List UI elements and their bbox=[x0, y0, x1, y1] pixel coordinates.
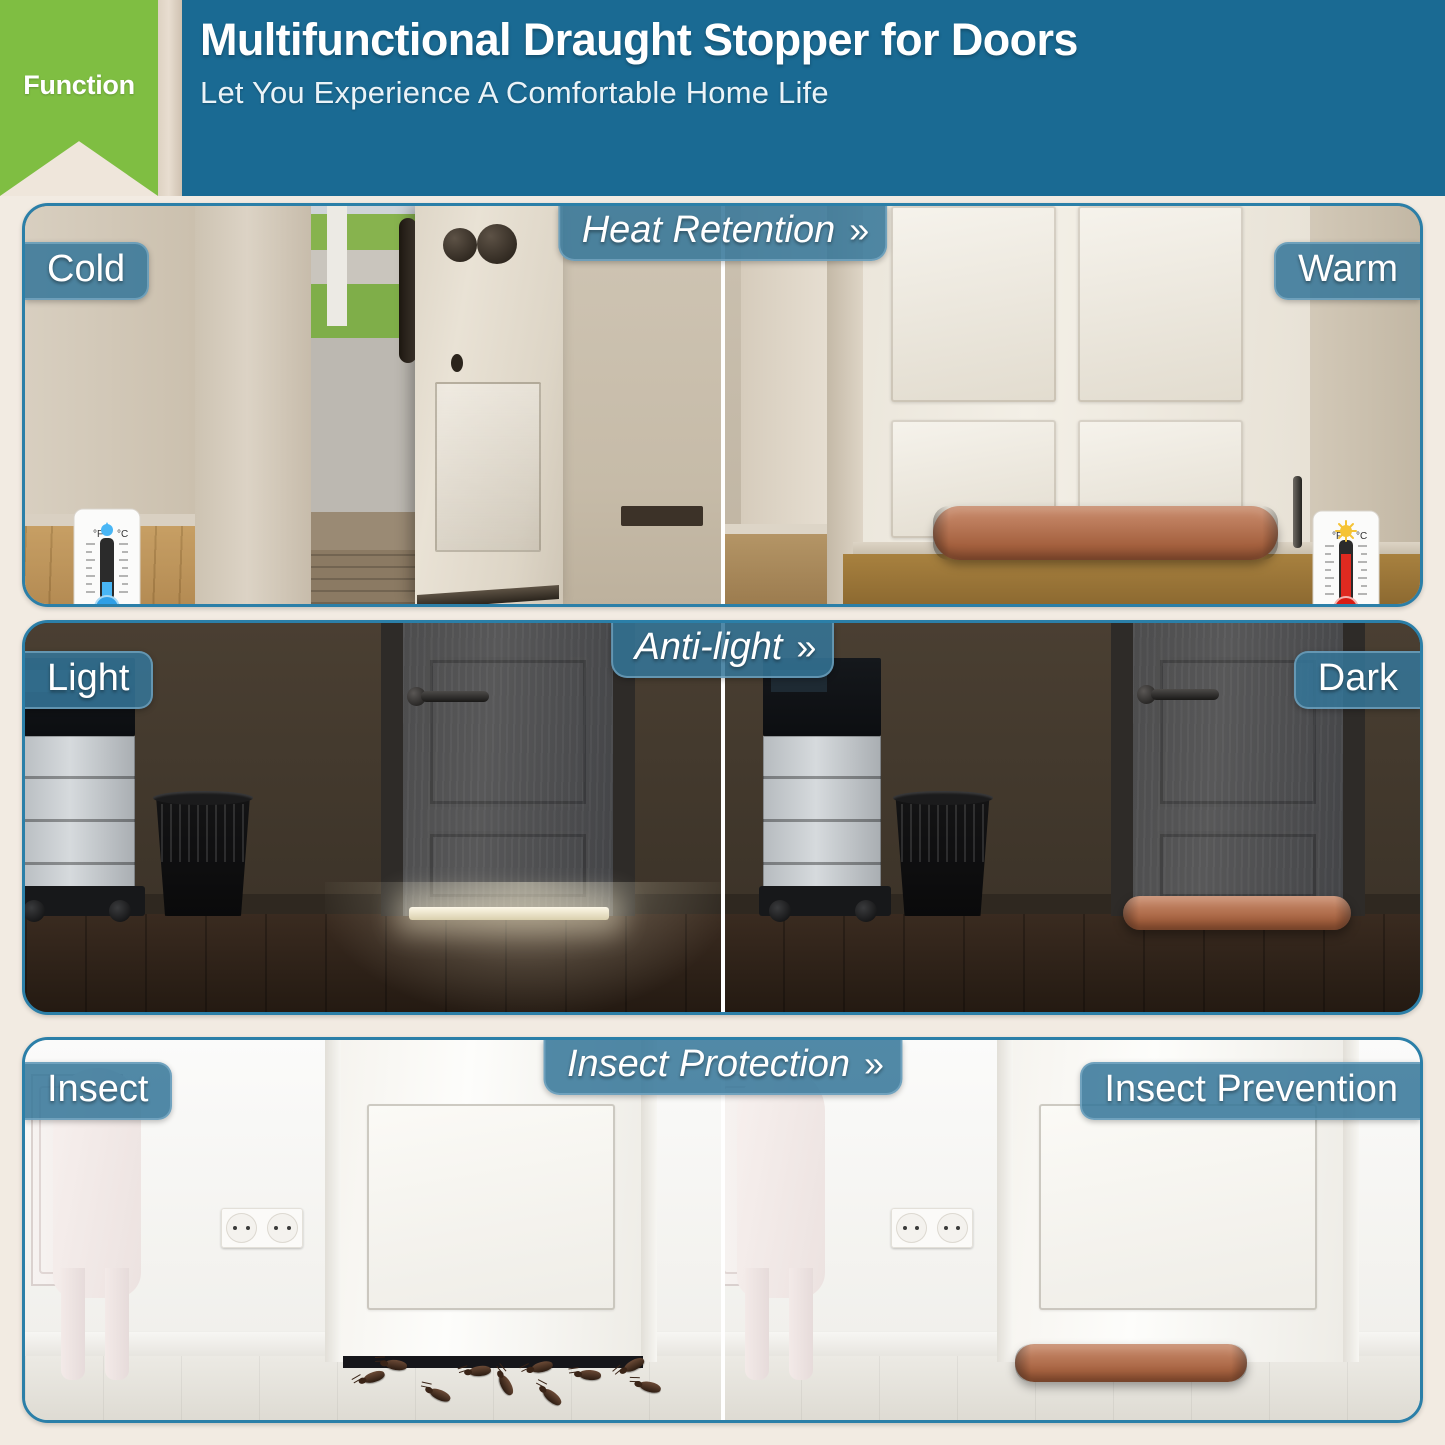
printer-trays bbox=[763, 736, 881, 890]
infographic-page: Function Multifunctional Draught Stopper… bbox=[0, 0, 1445, 1445]
scene-dark-blocked: Dark bbox=[723, 623, 1421, 1012]
panel-divider bbox=[721, 623, 725, 1012]
closed-door bbox=[403, 623, 613, 916]
door-lever-handle bbox=[421, 691, 489, 702]
socket-outlet bbox=[937, 1213, 968, 1243]
floor-vent-icon bbox=[621, 506, 703, 526]
label-dark: Dark bbox=[1294, 651, 1420, 709]
thermometer-cold-icon: °F °C bbox=[73, 508, 141, 604]
draught-stopper-product bbox=[1015, 1344, 1247, 1382]
badge-anti-light: Anti-light» bbox=[611, 623, 835, 678]
panel-divider bbox=[721, 1040, 725, 1420]
waste-basket bbox=[893, 796, 993, 916]
door-panel-inset bbox=[435, 382, 541, 552]
panel-anti-light: Light bbox=[22, 620, 1423, 1015]
basket-mesh bbox=[901, 804, 985, 862]
light-leak-under-door bbox=[409, 907, 609, 920]
svg-text:°C: °C bbox=[117, 529, 128, 540]
page-subtitle: Let You Experience A Comfortable Home Li… bbox=[200, 73, 1020, 113]
door-panel-inset bbox=[367, 1104, 615, 1310]
panel-divider bbox=[721, 206, 725, 604]
door-frame bbox=[325, 1040, 341, 1362]
header-seam-divider bbox=[158, 0, 182, 196]
cold-draught-swirl-icon bbox=[247, 584, 477, 604]
door-panel-inset bbox=[891, 206, 1056, 402]
basket-mesh bbox=[161, 804, 245, 862]
cart-wheel bbox=[769, 900, 791, 922]
panel-heat-retention: °F °C Cold bbox=[22, 203, 1423, 607]
white-ornate-dresser bbox=[723, 1074, 850, 1380]
scene-light-leak: Light bbox=[25, 623, 723, 1012]
waste-basket bbox=[153, 796, 253, 916]
door-panel-inset bbox=[1039, 1104, 1317, 1310]
door-panel-inset bbox=[427, 657, 589, 807]
door-jamb bbox=[381, 623, 403, 916]
badge-insect-protection: Insect Protection» bbox=[543, 1040, 902, 1095]
basket-body bbox=[153, 796, 253, 916]
ribbon-label: Function bbox=[23, 70, 135, 101]
door-knob-icon bbox=[477, 224, 517, 264]
page-title: Multifunctional Draught Stopper for Door… bbox=[200, 16, 1419, 63]
thermometer-warm-icon: °F °C bbox=[1312, 510, 1380, 604]
scene-insects-entering: Insect bbox=[25, 1040, 723, 1420]
header: Function Multifunctional Draught Stopper… bbox=[0, 0, 1445, 196]
cart-wheel bbox=[109, 900, 131, 922]
label-light: Light bbox=[25, 651, 153, 709]
door-panel-inset bbox=[1157, 831, 1319, 900]
draught-stopper-product bbox=[933, 506, 1278, 560]
label-cold: Cold bbox=[25, 242, 149, 300]
cart-wheel bbox=[855, 900, 877, 922]
scene-cold-open-door: °F °C Cold bbox=[25, 206, 723, 604]
door-frame bbox=[997, 1040, 1013, 1362]
door-jamb bbox=[1111, 623, 1133, 916]
office-printer bbox=[763, 658, 881, 916]
dresser-leg bbox=[789, 1268, 813, 1380]
draught-stopper-product bbox=[1123, 896, 1351, 930]
header-panel: Multifunctional Draught Stopper for Door… bbox=[182, 0, 1445, 196]
scene-warm-closed-door: °F °C Warm bbox=[723, 206, 1421, 604]
porch-step bbox=[311, 512, 417, 552]
label-insect-prevention: Insect Prevention bbox=[1080, 1062, 1420, 1120]
double-chevron-right-icon: » bbox=[796, 628, 810, 667]
driveway bbox=[311, 338, 417, 518]
door-jamb bbox=[195, 206, 311, 604]
socket-outlet bbox=[896, 1213, 927, 1243]
dresser-leg bbox=[61, 1268, 85, 1380]
basket-body bbox=[893, 796, 993, 916]
printer-trays bbox=[25, 736, 135, 890]
door-panel-inset bbox=[1078, 206, 1243, 402]
badge-label: Insect Protection bbox=[567, 1043, 850, 1085]
wall-socket-icon bbox=[891, 1208, 973, 1248]
scene-insects-blocked: Insect Prevention bbox=[723, 1040, 1421, 1420]
socket-outlet bbox=[267, 1213, 298, 1243]
door-hinge bbox=[1293, 476, 1302, 548]
label-warm: Warm bbox=[1274, 242, 1420, 300]
door-knob-icon bbox=[443, 228, 477, 262]
socket-outlet bbox=[226, 1213, 257, 1243]
open-door bbox=[415, 206, 563, 604]
badge-label: Heat Retention bbox=[582, 209, 836, 251]
door-lever-handle bbox=[1151, 689, 1219, 700]
wall-socket-icon bbox=[221, 1208, 303, 1248]
badge-heat-retention: Heat Retention» bbox=[558, 206, 888, 261]
label-insect: Insect bbox=[25, 1062, 172, 1120]
dresser-leg-curve bbox=[737, 1068, 825, 1298]
dresser-leg bbox=[105, 1268, 129, 1380]
light-spill-glow bbox=[325, 882, 723, 1012]
dresser-leg bbox=[745, 1268, 769, 1380]
badge-label: Anti-light bbox=[635, 626, 783, 668]
keyhole-icon bbox=[451, 354, 463, 372]
basket-rim bbox=[893, 791, 993, 805]
double-chevron-right-icon: » bbox=[849, 211, 863, 250]
porch-post bbox=[327, 206, 347, 326]
svg-text:°C: °C bbox=[1356, 531, 1367, 542]
basket-rim bbox=[153, 791, 253, 805]
panel-insect-protection: Insect Insect Prevention bbox=[22, 1037, 1423, 1423]
double-chevron-right-icon: » bbox=[864, 1045, 878, 1084]
